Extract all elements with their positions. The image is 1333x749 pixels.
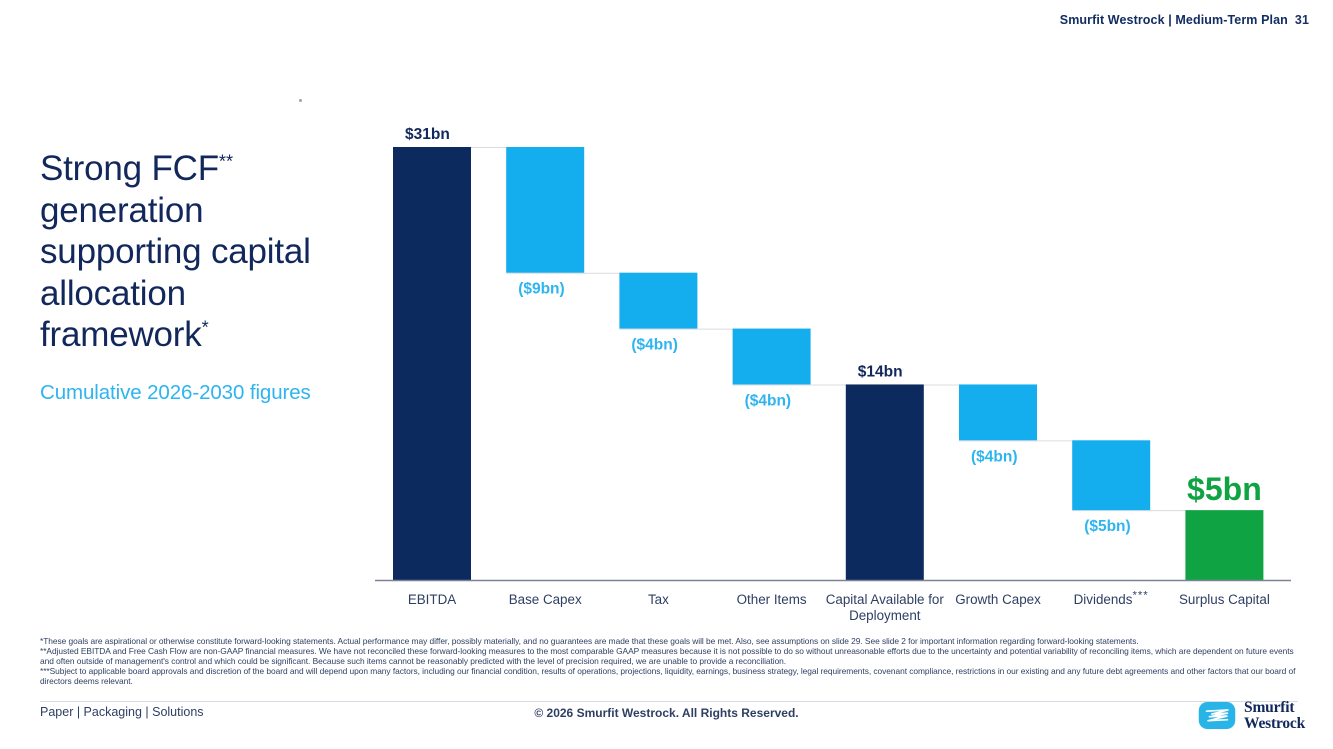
page-title-line-5: framework (40, 315, 202, 354)
logo-wordmark-line-1: Smurfit (1244, 700, 1305, 716)
x-axis-label-footnote-marker: *** (1132, 590, 1148, 602)
x-axis-label-text: Surplus Capital (1179, 592, 1270, 607)
footnote-1: *These goals are aspirational or otherwi… (40, 636, 1298, 646)
footer-divider (40, 701, 1298, 702)
header-brand-text: Smurfit Westrock | Medium-Term Plan (1060, 13, 1288, 27)
x-axis-label-text: Growth Capex (955, 592, 1041, 607)
decorative-dot (299, 99, 302, 102)
waterfall-bar (733, 329, 811, 385)
waterfall-bar (506, 147, 584, 273)
bar-value-label: ($4bn) (631, 337, 678, 354)
logo-wordmark: Smurfit Westrock (1244, 700, 1305, 731)
waterfall-bar (846, 384, 924, 580)
brand-logo: Smurfit Westrock (1198, 700, 1305, 731)
page-title-line-2: generation (40, 191, 203, 230)
x-axis-label-surplus-capital: Surplus Capital (1149, 592, 1299, 608)
page-subtitle: Cumulative 2026-2030 figures (40, 378, 370, 407)
x-axis-label-text: Tax (648, 592, 669, 607)
footer-copyright: © 2026 Smurfit Westrock. All Rights Rese… (0, 706, 1333, 720)
bar-value-label: ($4bn) (745, 392, 792, 409)
page-title-line-4: allocation (40, 274, 186, 313)
page-title-footnote-marker-1: * (202, 317, 209, 337)
bar-value-label: ($5bn) (1084, 518, 1131, 535)
header-brand-line: Smurfit Westrock | Medium-Term Plan31 (1060, 13, 1309, 27)
waterfall-bar (959, 384, 1037, 440)
bar-value-label: ($4bn) (971, 448, 1018, 465)
page-title-footnote-marker-2: ** (219, 151, 233, 171)
page-number: 31 (1295, 13, 1309, 27)
x-axis-label-text: EBITDA (408, 592, 456, 607)
bar-value-label: $5bn (1187, 471, 1262, 507)
footnotes-block: *These goals are aspirational or otherwi… (40, 636, 1298, 686)
waterfall-bar (619, 273, 697, 329)
waterfall-bar (1072, 440, 1150, 510)
page-title: Strong FCF** generation supporting capit… (40, 148, 370, 356)
footnote-2: **Adjusted EBITDA and Free Cash Flow are… (40, 646, 1298, 666)
page-title-line-3: supporting capital (40, 232, 311, 271)
waterfall-bar (393, 147, 471, 580)
logo-wordmark-line-2: Westrock (1244, 716, 1305, 732)
bar-value-label: $14bn (858, 363, 903, 380)
bar-value-label: ($9bn) (518, 281, 565, 298)
x-axis-label-text: Base Capex (509, 592, 582, 607)
waterfall-bar (1185, 510, 1263, 580)
x-axis-label-text: Other Items (737, 592, 807, 607)
smurfit-westrock-wave-mark (1198, 701, 1236, 730)
footnote-3: ***Subject to applicable board approvals… (40, 666, 1298, 686)
waterfall-connector-lines (393, 148, 1263, 511)
x-axis-label-text: Dividends (1074, 592, 1133, 607)
waterfall-value-labels: $31bn($9bn)($4bn)($4bn)$14bn($4bn)($5bn)… (405, 126, 1262, 535)
page-title-line-1: Strong FCF (40, 149, 219, 188)
title-block: Strong FCF** generation supporting capit… (40, 148, 370, 407)
waterfall-bars (393, 147, 1263, 580)
bar-value-label: $31bn (405, 126, 450, 143)
